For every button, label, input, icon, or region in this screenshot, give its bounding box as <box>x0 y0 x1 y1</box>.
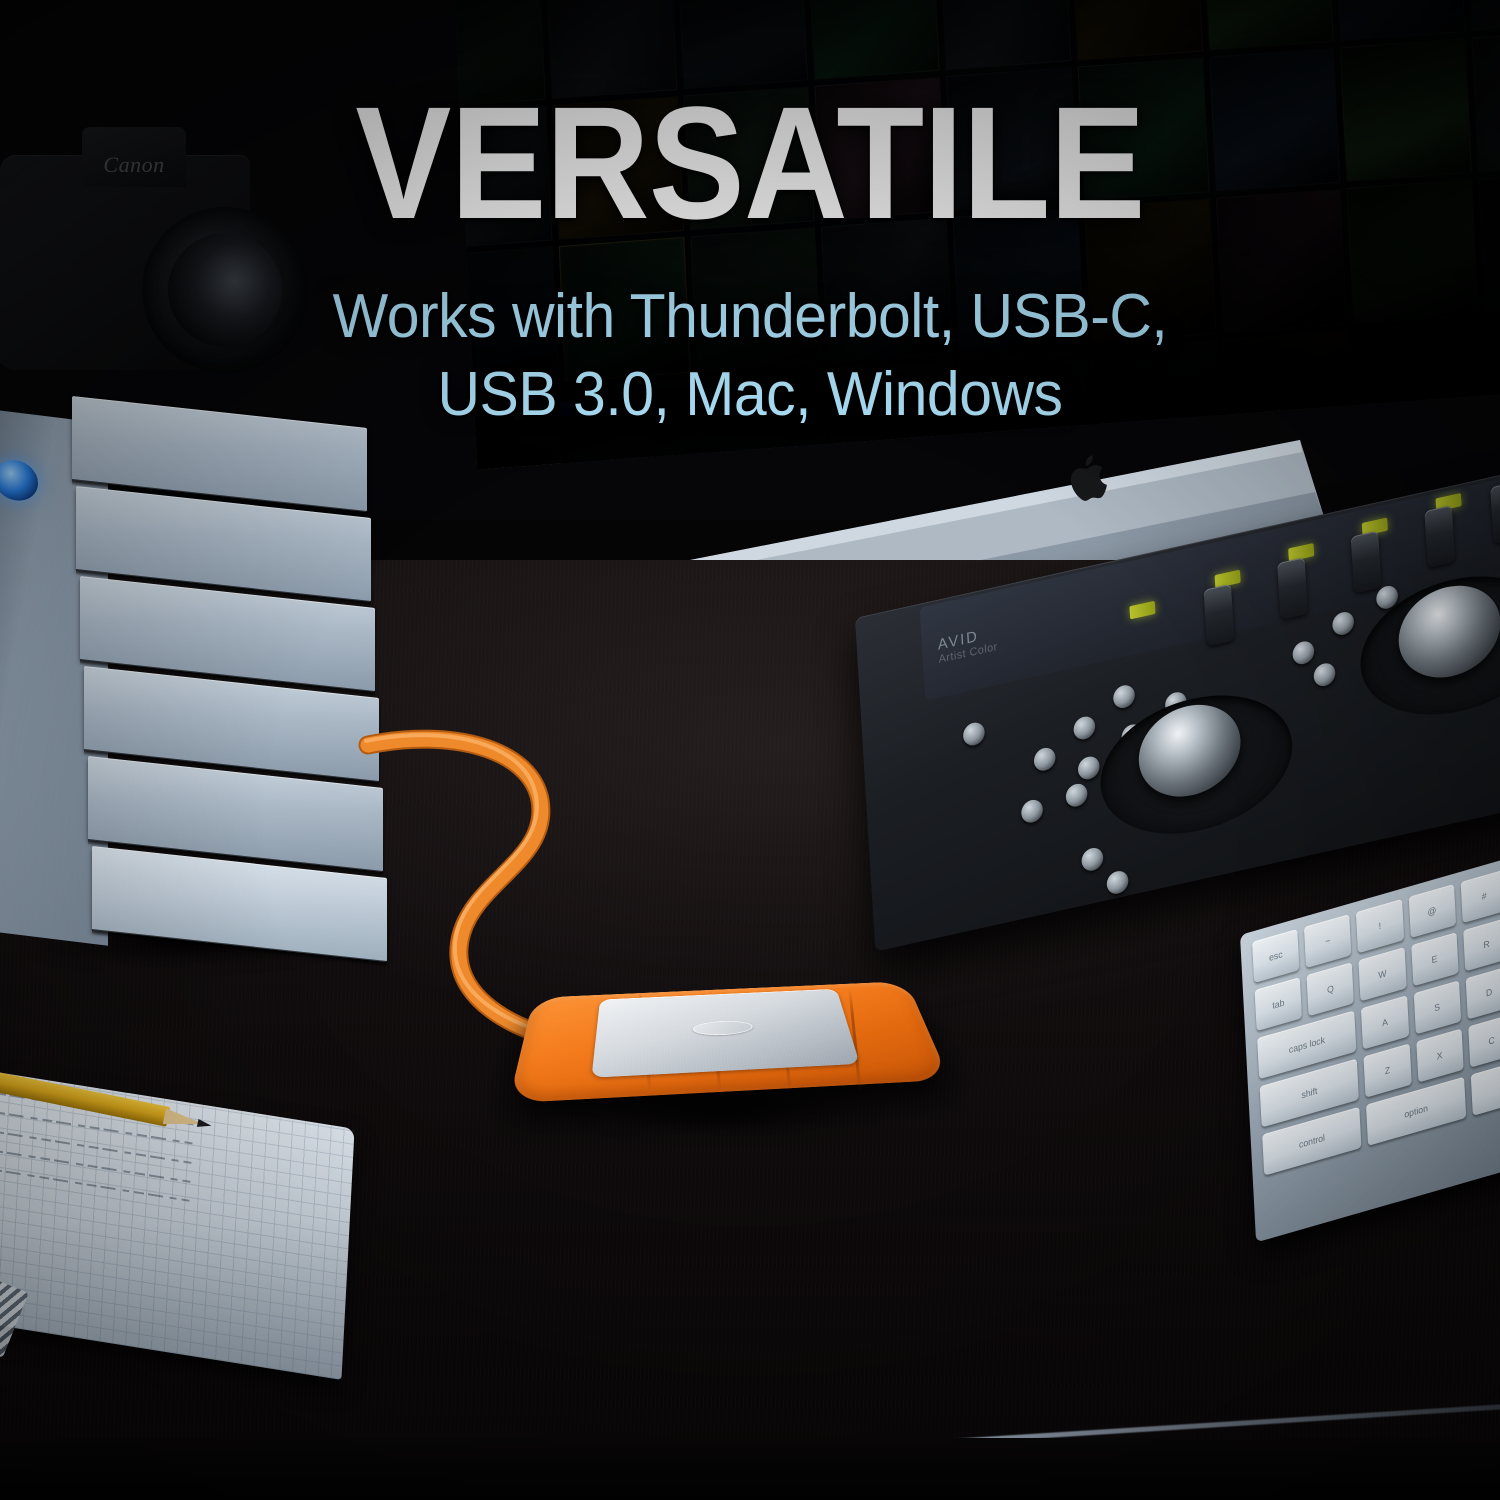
product-marketing-image: Canon AVID Artist <box>0 0 1500 1500</box>
panel-button[interactable] <box>962 721 985 748</box>
page-subtitle: Works with Thunderbolt, USB-C, USB 3.0, … <box>38 278 1463 434</box>
raid-drive-bays <box>72 390 367 945</box>
key[interactable]: ! <box>1356 899 1403 953</box>
panel-button[interactable] <box>1021 798 1044 825</box>
key[interactable]: Z <box>1364 1044 1411 1098</box>
key[interactable]: W <box>1359 947 1406 1001</box>
rotary-knob[interactable] <box>1351 531 1382 594</box>
lacie-logo <box>693 1020 754 1037</box>
key[interactable]: Q <box>1307 962 1354 1016</box>
key[interactable]: S <box>1413 980 1460 1034</box>
panel-button[interactable] <box>1033 746 1056 773</box>
rotary-knob[interactable] <box>1490 481 1500 544</box>
key[interactable]: D <box>1465 966 1500 1020</box>
drive-body <box>525 963 930 1109</box>
lacie-rugged-drive[interactable] <box>505 945 965 1155</box>
key[interactable]: C <box>1468 1014 1500 1068</box>
panel-button[interactable] <box>1106 869 1129 896</box>
power-led-indicator[interactable] <box>0 458 38 503</box>
key[interactable]: R <box>1463 917 1500 971</box>
key[interactable]: esc <box>1252 929 1299 983</box>
panel-button[interactable] <box>1292 639 1315 666</box>
panel-button[interactable] <box>1073 714 1096 741</box>
drive-top-plate <box>591 989 859 1078</box>
desk-underside <box>0 1438 1500 1500</box>
rotary-knob[interactable] <box>1204 584 1235 647</box>
key[interactable]: E <box>1411 932 1458 986</box>
avid-logo: AVID Artist Color <box>937 624 998 666</box>
apple-magic-keyboard[interactable]: esc ~ ! @ # $ tab Q W E R T caps lock A … <box>1240 935 1500 1265</box>
page-title: VERSATILE <box>75 88 1425 238</box>
key[interactable]: A <box>1361 995 1408 1049</box>
panel-button[interactable] <box>1113 683 1136 710</box>
rotary-knob[interactable] <box>1424 505 1455 568</box>
panel-button[interactable] <box>1065 782 1088 809</box>
lacie-6big-raid-enclosure <box>0 390 410 950</box>
panel-deck: AVID Artist Color <box>855 469 1500 952</box>
panel-button[interactable] <box>1077 754 1100 781</box>
key[interactable]: @ <box>1408 884 1455 938</box>
trackball[interactable] <box>1136 695 1243 806</box>
key[interactable]: # <box>1460 869 1500 923</box>
status-led <box>1129 601 1155 620</box>
key[interactable]: ~ <box>1304 914 1351 968</box>
key[interactable]: tab <box>1255 977 1302 1031</box>
panel-button[interactable] <box>1081 846 1104 873</box>
key[interactable]: X <box>1416 1029 1463 1083</box>
subtitle-line-2: USB 3.0, Mac, Windows <box>38 356 1463 434</box>
subtitle-line-1: Works with Thunderbolt, USB-C, <box>38 278 1463 356</box>
panel-button[interactable] <box>1332 610 1355 637</box>
panel-button[interactable] <box>1313 661 1336 688</box>
rotary-knob[interactable] <box>1277 557 1308 620</box>
